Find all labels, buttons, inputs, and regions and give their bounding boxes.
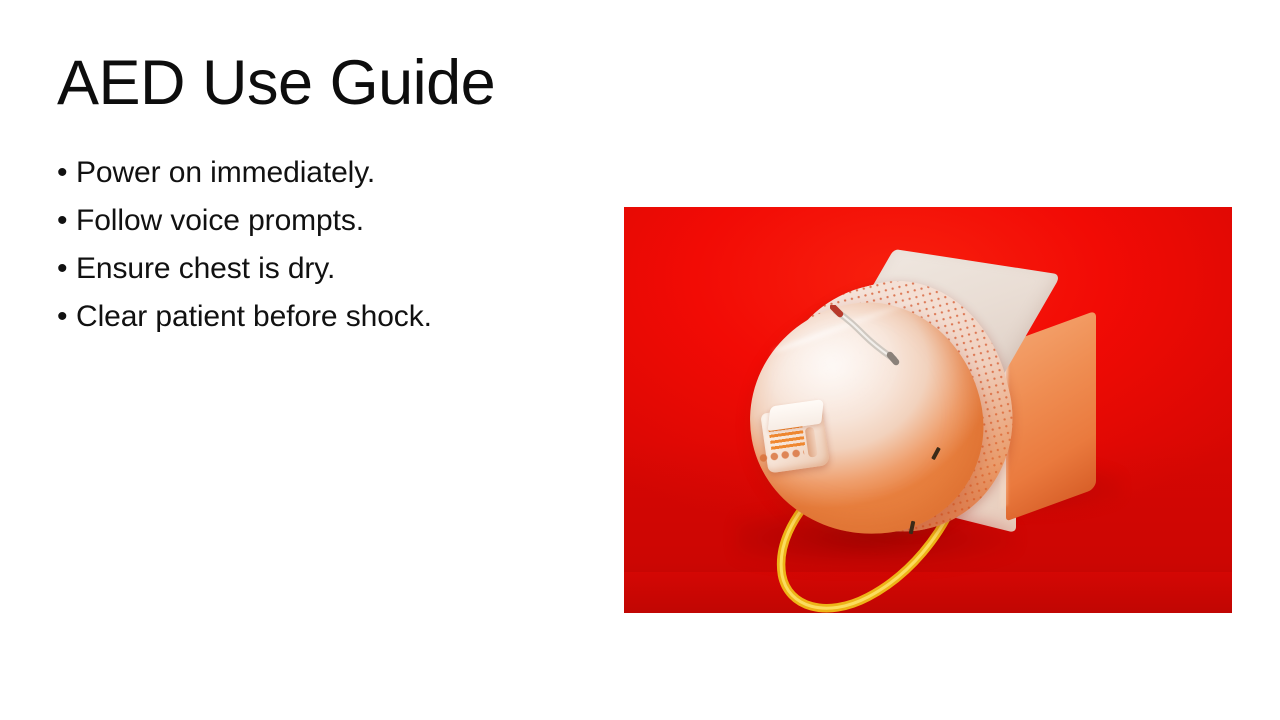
list-item-label: Clear patient before shock. xyxy=(76,293,432,341)
exhalation-valve xyxy=(759,399,836,478)
list-item: • Ensure chest is dry. xyxy=(57,245,577,293)
bullet-dot-icon: • xyxy=(57,245,76,293)
slide: AED Use Guide • Power on immediately. • … xyxy=(0,0,1280,720)
bullet-dot-icon: • xyxy=(57,149,76,197)
respirator-mask xyxy=(712,275,1042,575)
list-item: • Power on immediately. xyxy=(57,149,577,197)
page-title: AED Use Guide xyxy=(57,48,577,119)
bullet-list: • Power on immediately. • Follow voice p… xyxy=(57,149,577,341)
bullet-dot-icon: • xyxy=(57,197,76,245)
list-item: • Clear patient before shock. xyxy=(57,293,577,341)
photo-scene xyxy=(624,207,1232,613)
slide-text-column: AED Use Guide • Power on immediately. • … xyxy=(57,48,577,341)
list-item: • Follow voice prompts. xyxy=(57,197,577,245)
n95-respirator-on-foam-block-photo xyxy=(624,207,1232,613)
list-item-label: Ensure chest is dry. xyxy=(76,245,335,293)
list-item-label: Follow voice prompts. xyxy=(76,197,364,245)
nose-clip-icon xyxy=(830,305,906,367)
list-item-label: Power on immediately. xyxy=(76,149,375,197)
bullet-dot-icon: • xyxy=(57,293,76,341)
